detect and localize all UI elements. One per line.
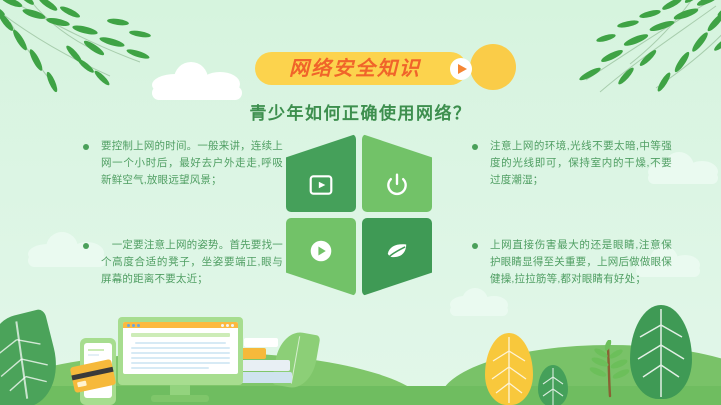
content-block-4: 上网直接伤害最大的还是眼睛,注意保护眼睛显得至关重要，上网后做做眼保健操,拉拉筋… <box>472 237 672 288</box>
content-block-3-text: 注意上网的环境,光线不要太暗,中等强度的光线即可，保持室内的干燥,不要过度潮湿； <box>472 138 672 189</box>
hexagon-quadrants <box>286 134 436 302</box>
monitor-stand <box>151 395 209 402</box>
video-frame-play-icon <box>308 172 334 198</box>
card-chip <box>77 381 87 388</box>
leaf-icon <box>384 238 410 264</box>
play-circle-icon <box>308 238 334 264</box>
leaf-tree-veins <box>538 365 568 405</box>
sun-icon <box>470 44 516 90</box>
hex-quadrant-bottom-left[interactable] <box>286 218 356 296</box>
bullet-dot <box>83 144 89 150</box>
bamboo-branch-top-right <box>530 0 721 108</box>
phone-line-1 <box>88 349 104 351</box>
content-block-4-text: 上网直接伤害最大的还是眼睛,注意保护眼睛显得至关重要，上网后做做眼保健操,拉拉筋… <box>472 237 672 288</box>
monitor-neck <box>170 385 190 395</box>
monitor-screen <box>123 322 238 374</box>
bullet-dot <box>472 144 478 150</box>
content-block-3: 注意上网的环境,光线不要太暗,中等强度的光线即可，保持室内的干燥,不要过度潮湿； <box>472 138 672 189</box>
leaf-veins <box>0 308 66 405</box>
content-block-1-text: 要控制上网的时间。一般来讲，连续上网一个小时后，最好去户外走走,呼吸新鲜空气,放… <box>83 138 283 189</box>
sprout-svg <box>588 340 632 398</box>
sprout-plant <box>588 340 632 398</box>
phone-line-2 <box>88 354 99 356</box>
browser-title-bar <box>123 322 238 328</box>
bullet-dot <box>83 243 89 249</box>
book-white <box>244 338 278 347</box>
bullet-dot <box>472 243 478 249</box>
content-block-2-text: 一定要注意上网的姿势。首先要找一个高度合适的凳子，坐姿要端正,眼与屏幕的距离不要… <box>83 237 283 288</box>
play-triangle-icon[interactable] <box>450 58 472 80</box>
large-leaf-bottom-left <box>0 308 66 405</box>
browser-highlight-bar <box>131 333 230 337</box>
hex-quadrant-bottom-right[interactable] <box>362 218 432 296</box>
bamboo-branch-top-left <box>0 0 240 107</box>
leaf-tree-veins <box>485 333 533 405</box>
hex-quadrant-top-right[interactable] <box>362 134 432 212</box>
card-magnetic-stripe <box>71 367 113 381</box>
page-subtitle: 青少年如何正确使用网络？ <box>0 99 721 124</box>
content-block-1: 要控制上网的时间。一般来讲，连续上网一个小时后，最好去户外走走,呼吸新鲜空气,放… <box>83 138 283 189</box>
hex-quadrant-top-left[interactable] <box>286 134 356 212</box>
monitor-body <box>118 317 243 385</box>
power-icon <box>384 172 410 198</box>
leaf-tree-veins <box>630 305 692 399</box>
poster-canvas: 网络安全知识 青少年如何正确使用网络？ 要控制上网的时间。一般来讲，连续上网一个… <box>0 0 721 405</box>
content-block-2: 一定要注意上网的姿势。首先要找一个高度合适的凳子，坐姿要端正,眼与屏幕的距离不要… <box>83 237 283 288</box>
banner-title: 网络安全知识 <box>275 57 435 81</box>
